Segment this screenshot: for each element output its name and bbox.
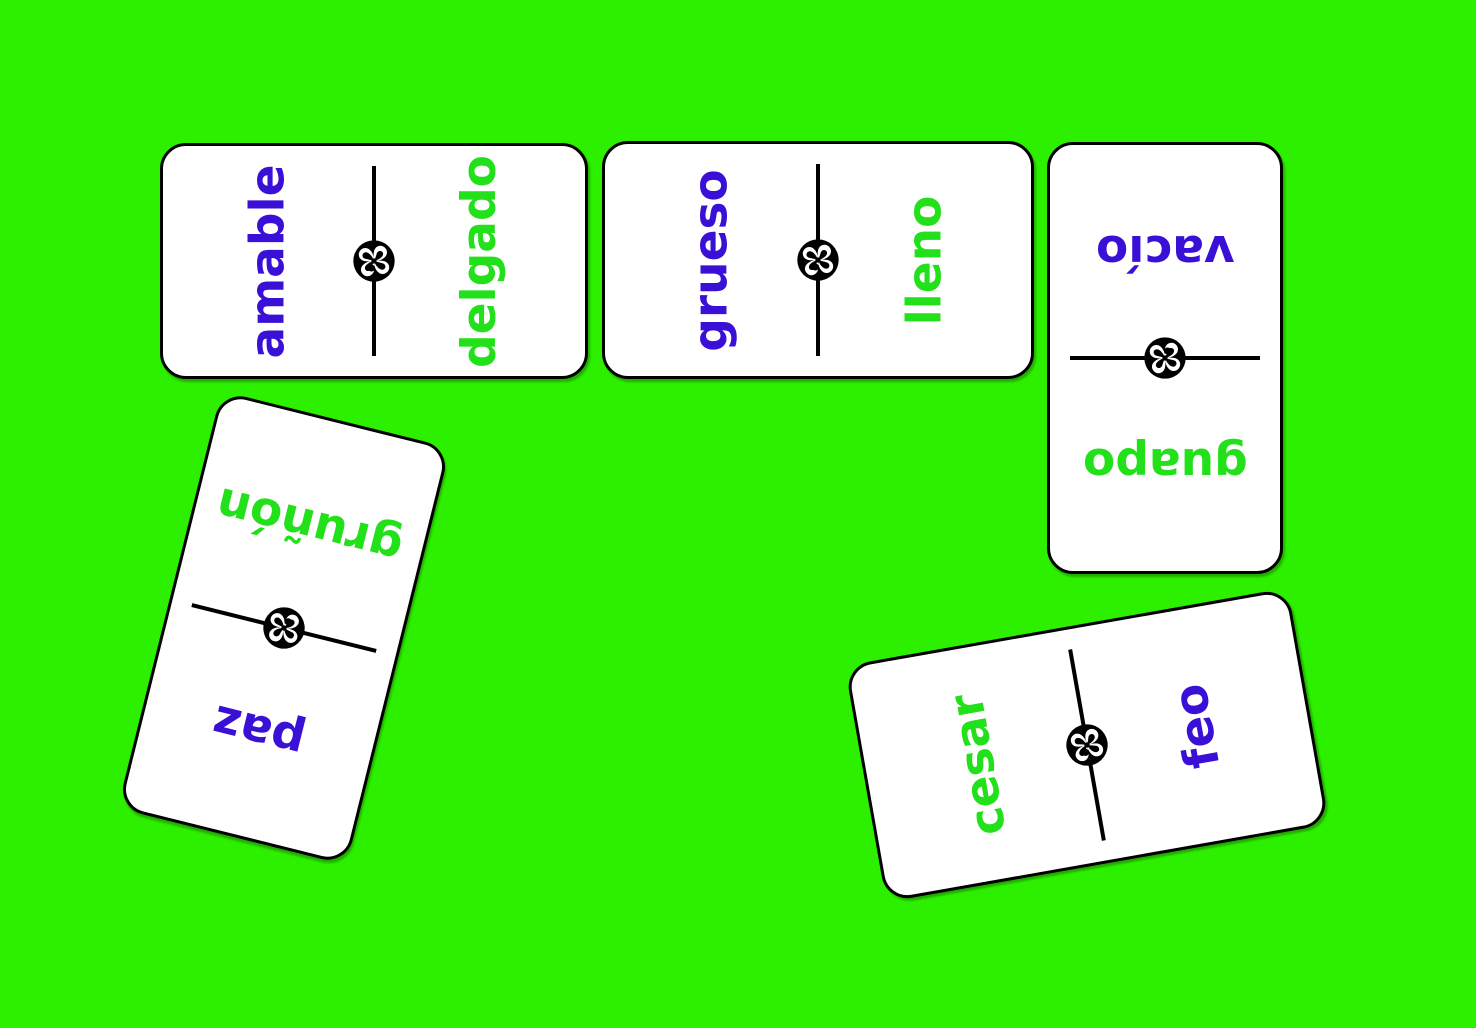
domino-word-feo: feo: [1166, 680, 1227, 772]
domino-half-delgado[interactable]: delgado: [374, 146, 585, 376]
domino-tile-grunon-paz[interactable]: gruñón paz: [117, 391, 450, 865]
domino-half-amable[interactable]: amable: [163, 146, 374, 376]
domino-half-lleno[interactable]: lleno: [818, 144, 1031, 376]
domino-word-amable: amable: [245, 164, 292, 358]
domino-tile-vacio-guapo[interactable]: vacío guapo: [1047, 142, 1283, 574]
domino-half-grueso[interactable]: grueso: [605, 144, 818, 376]
domino-half-vacio[interactable]: vacío: [1050, 145, 1280, 358]
pinwheel-icon: [1062, 720, 1113, 771]
pinwheel-icon: [352, 239, 396, 283]
domino-word-vacio: vacío: [1096, 228, 1235, 275]
domino-word-delgado: delgado: [456, 155, 503, 368]
domino-word-grueso: grueso: [688, 169, 735, 351]
domino-half-guapo[interactable]: guapo: [1050, 358, 1280, 571]
domino-word-cesar: cesar: [942, 690, 1013, 839]
domino-word-paz: paz: [208, 697, 309, 765]
domino-word-lleno: lleno: [901, 195, 948, 325]
domino-word-guapo: guapo: [1083, 441, 1248, 488]
domino-board: amable delgado grueso: [0, 0, 1476, 1028]
domino-word-grunon: gruñón: [212, 479, 407, 570]
domino-tile-grueso-lleno[interactable]: grueso lleno: [602, 141, 1034, 379]
pinwheel-icon: [1143, 336, 1187, 380]
domino-tile-cesar-feo[interactable]: cesar feo: [845, 588, 1330, 902]
domino-tile-amable-delgado[interactable]: amable delgado: [160, 143, 588, 379]
pinwheel-icon: [796, 238, 840, 282]
